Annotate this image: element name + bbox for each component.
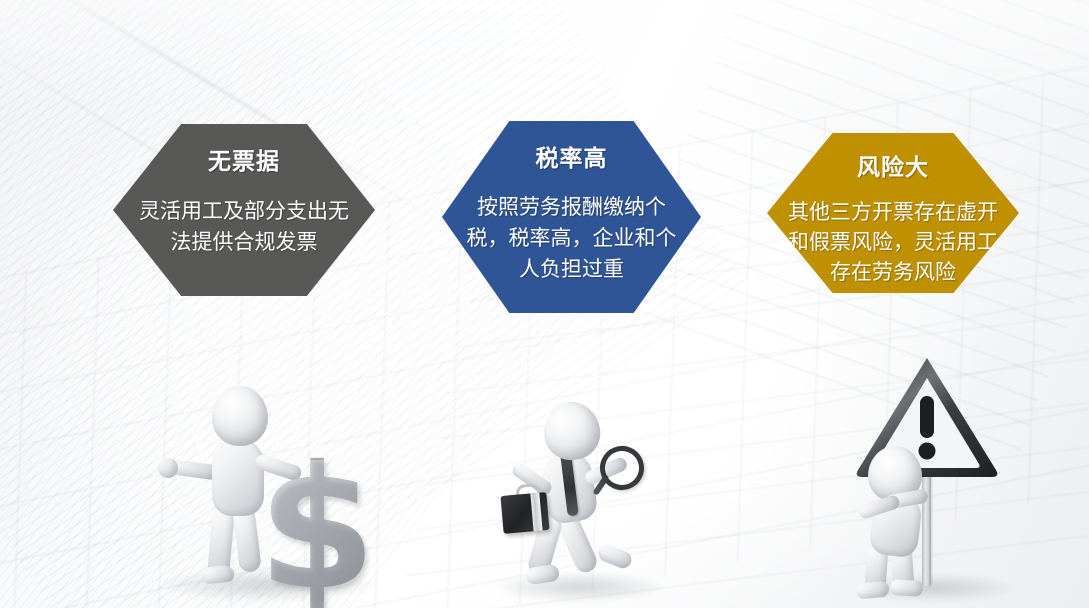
- illustration-3d-man-with-dollar-sign: $ $: [150, 378, 380, 608]
- card-body-text: 灵活用工及部分支出无法提供合规发票: [135, 196, 353, 258]
- figure-right-foot: [596, 542, 634, 570]
- slide-canvas: $ $: [0, 0, 1089, 608]
- illustration-3d-businessman-with-briefcase: [488, 398, 668, 608]
- figure-right-foot: [890, 579, 924, 597]
- briefcase-icon: [500, 492, 549, 534]
- card-body-text: 按照劳务报酬缴纳个税，税率高，企业和个人负担过重: [460, 192, 684, 285]
- figure-left-hand: [158, 458, 178, 478]
- card-title: 税率高: [536, 144, 608, 172]
- figure-head: [540, 398, 604, 463]
- card-title: 无票据: [208, 147, 280, 175]
- illustration-3d-man-leaning-on-warning-sign: [838, 352, 1028, 608]
- dollar-sign-icon: $: [254, 460, 380, 602]
- card-title: 风险大: [857, 153, 929, 181]
- figure-shadow: [496, 572, 664, 602]
